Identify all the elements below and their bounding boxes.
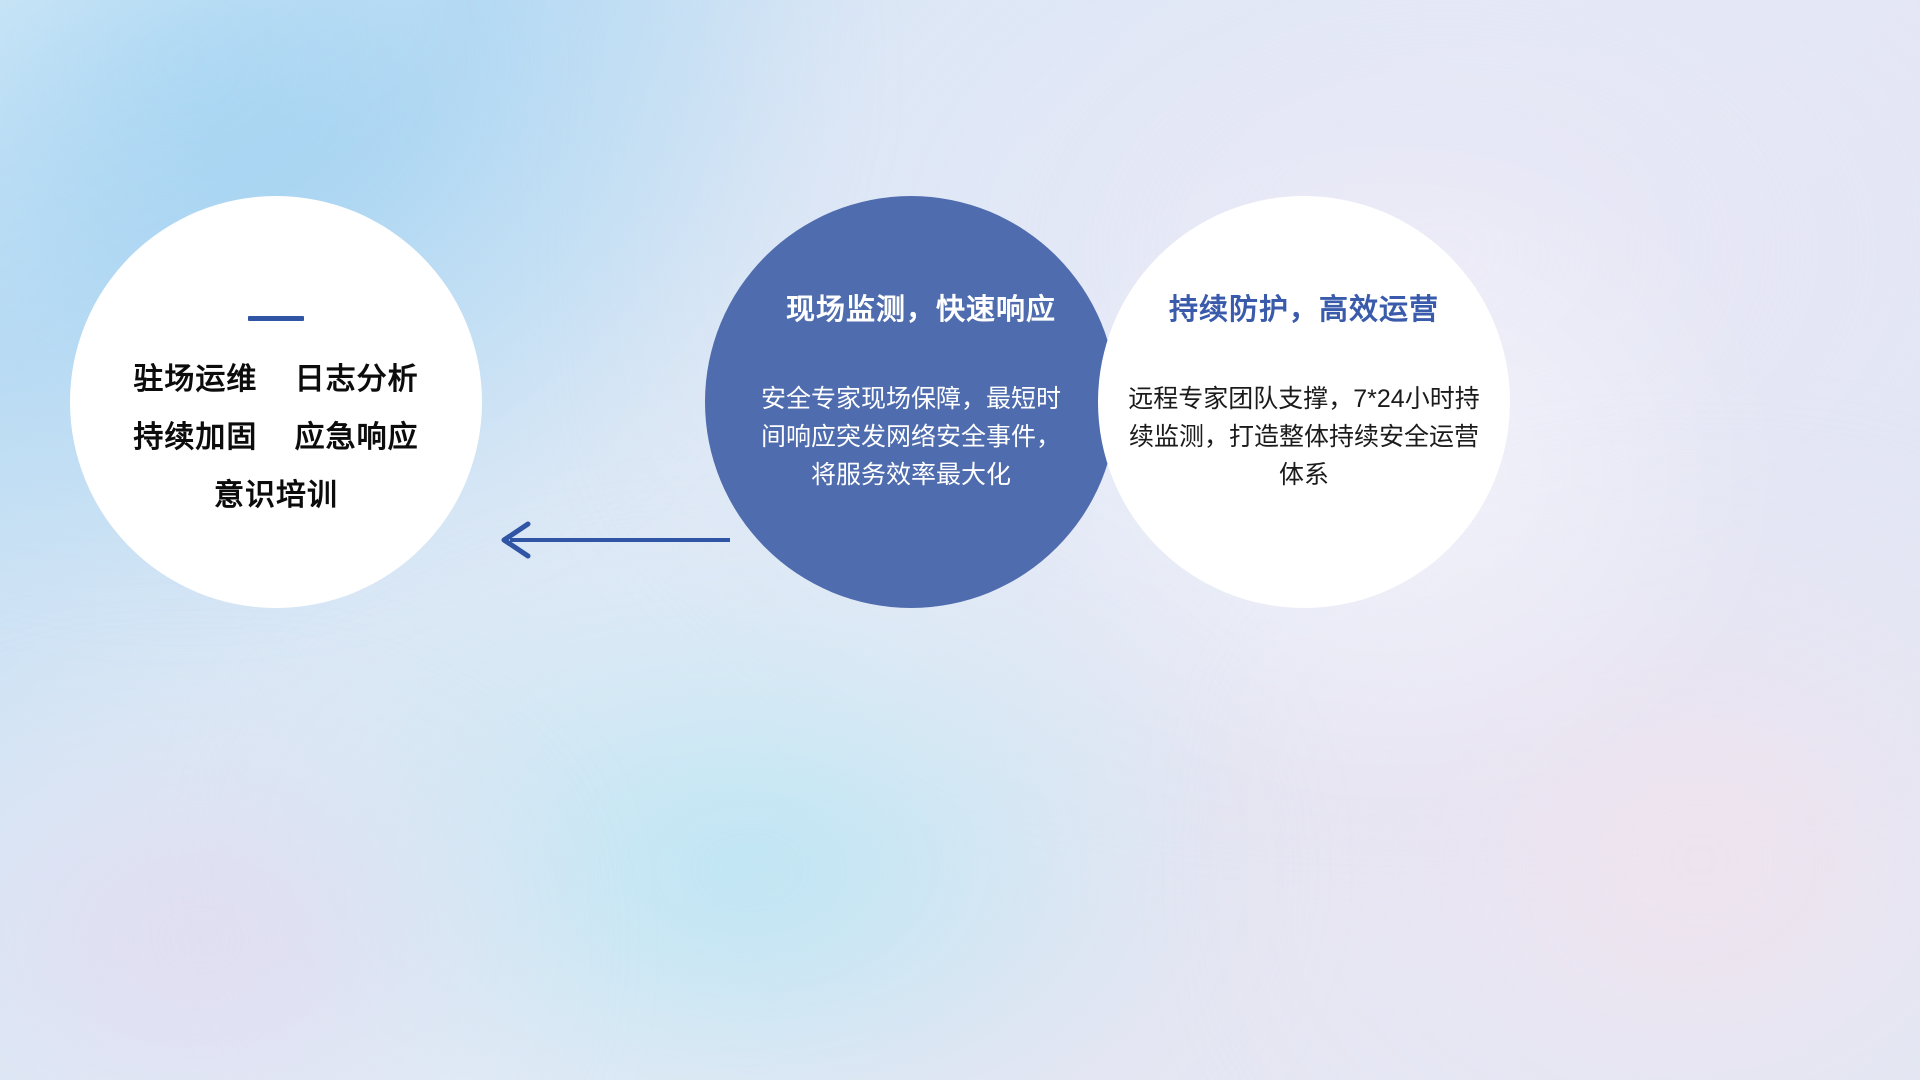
left-circle-line-2: 持续加固 应急响应 [133,423,418,453]
left-circle-line-1: 驻场运维 日志分析 [133,365,418,395]
left-circle-content: 驻场运维 日志分析 持续加固 应急响应 意识培训 [70,196,482,608]
left-circle-line-3: 意识培训 [214,481,338,511]
middle-circle-content: 现场监测，快速响应 安全专家现场保障，最短时间响应突发网络安全事件，将服务效率最… [705,196,1117,608]
right-circle-title: 持续防护，高效运营 [1169,286,1439,328]
right-circle-body: 远程专家团队支撑，7*24小时持续监测，打造整体持续安全运营体系 [1124,380,1484,494]
right-circle-content: 持续防护，高效运营 远程专家团队支撑，7*24小时持续监测，打造整体持续安全运营… [1098,196,1510,608]
slide-canvas: 驻场运维 日志分析 持续加固 应急响应 意识培训 现场监测，快速响应 安全专家现… [0,0,1920,1080]
accent-dash-icon [248,316,304,321]
flow-arrow-icon [480,505,730,575]
middle-circle-body: 安全专家现场保障，最短时间响应突发网络安全事件，将服务效率最大化 [751,380,1071,494]
middle-circle-title: 现场监测，快速响应 [786,286,1056,328]
background-glow-violet [0,680,560,1080]
flow-arrow [480,505,730,575]
